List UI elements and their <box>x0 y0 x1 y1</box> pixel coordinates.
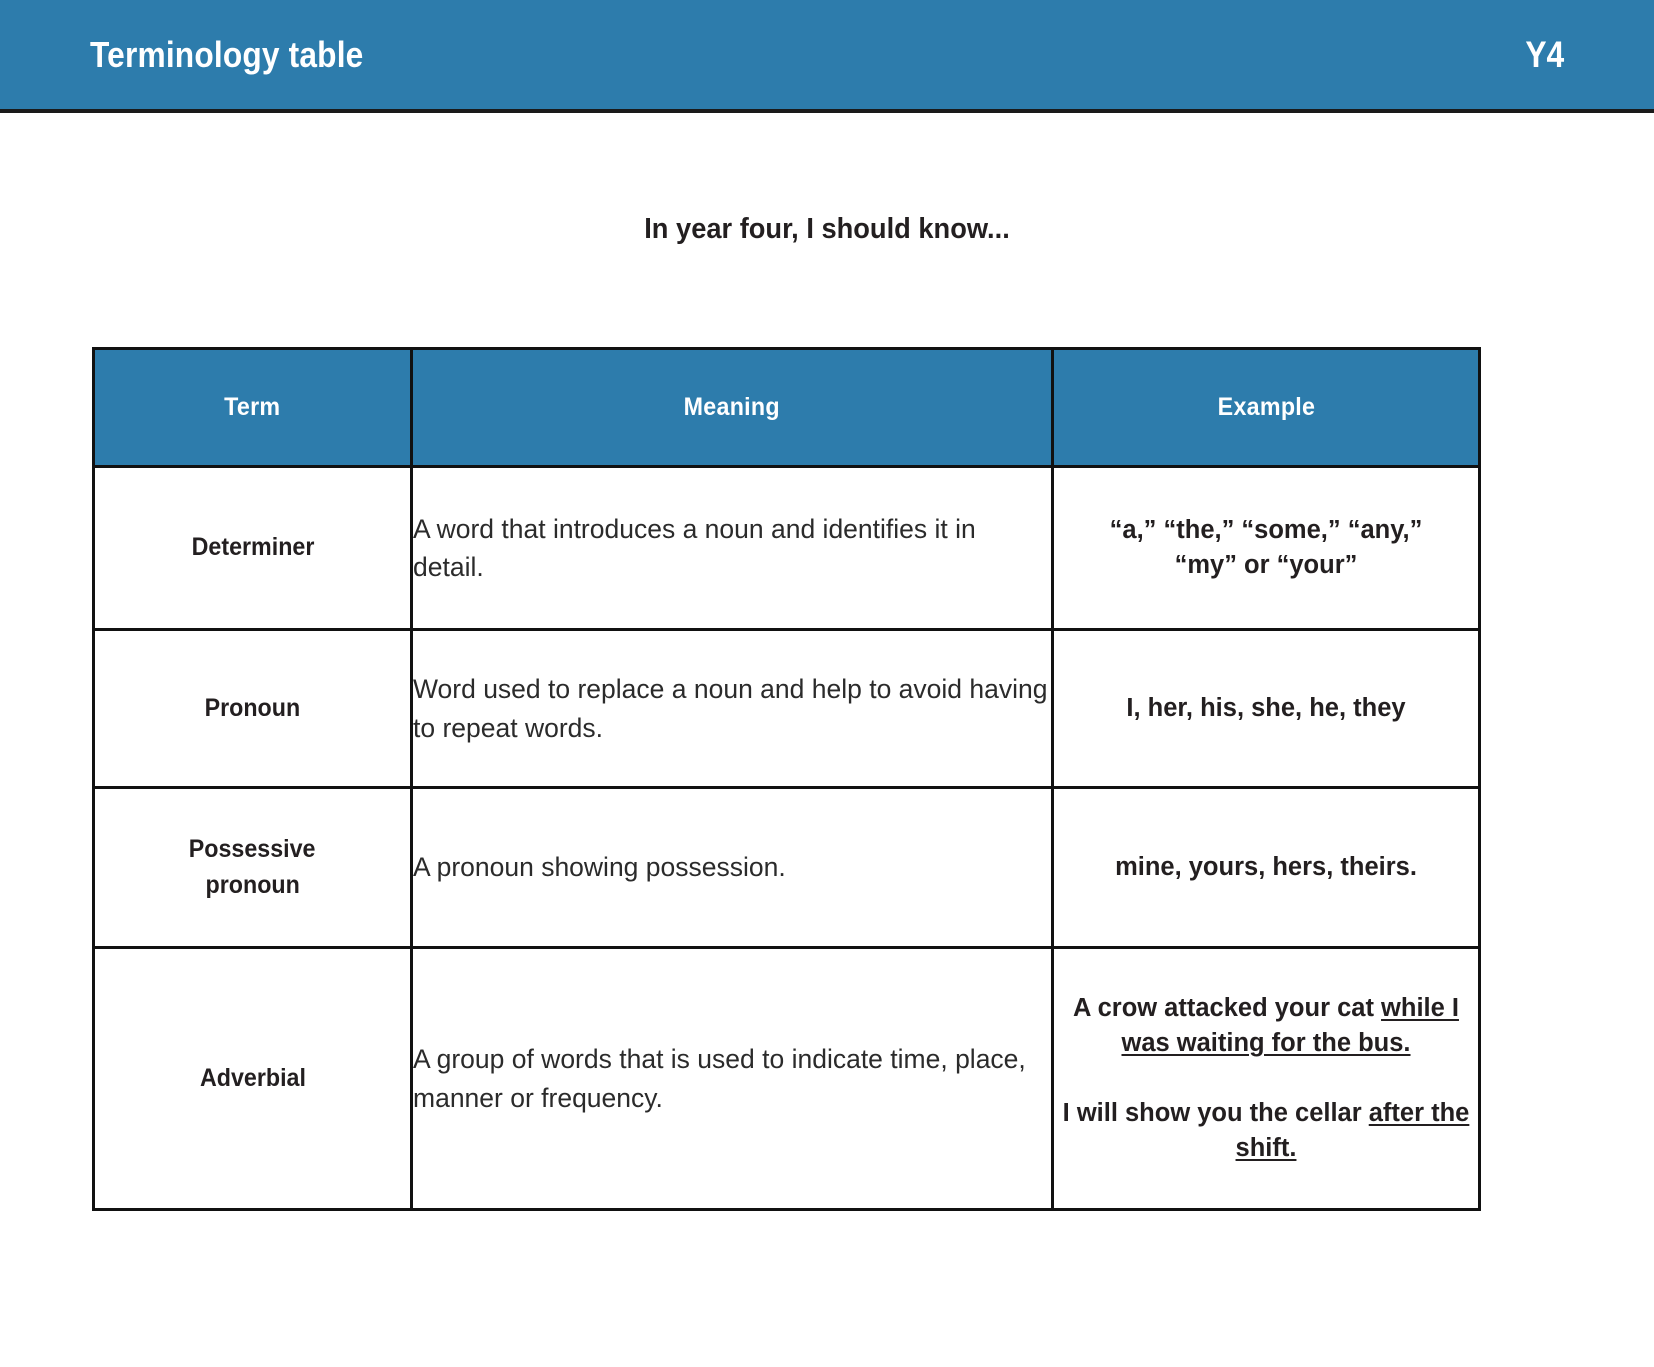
table-header-row: Term Meaning Example <box>94 349 1480 467</box>
year-group-badge: Y4 <box>1525 34 1564 76</box>
example-spacer <box>1054 1062 1478 1096</box>
cell-meaning: Word used to replace a noun and help to … <box>412 630 1053 788</box>
column-header-term: Term <box>94 349 412 467</box>
cell-term: Pronoun <box>94 630 412 788</box>
column-header-meaning: Meaning <box>412 349 1053 467</box>
term-label: Adverbial <box>200 1061 306 1097</box>
cell-meaning: A group of words that is used to indicat… <box>412 948 1053 1210</box>
example-plain-text: A crow attacked your cat <box>1073 994 1381 1022</box>
term-label: Pronoun <box>205 691 301 727</box>
table-row: Adverbial A group of words that is used … <box>94 948 1480 1210</box>
example-line: mine, yours, hers, theirs. <box>1054 850 1478 885</box>
terminology-table-container: Term Meaning Example Determiner A word t… <box>92 347 1478 1211</box>
cell-meaning: A pronoun showing possession. <box>412 788 1053 948</box>
cell-meaning: A word that introduces a noun and identi… <box>412 467 1053 630</box>
example-sentence-2: I will show you the cellar after the shi… <box>1054 1096 1478 1166</box>
cell-example: I, her, his, she, he, they <box>1053 630 1480 788</box>
table-row: Pronoun Word used to replace a noun and … <box>94 630 1480 788</box>
cell-term: Possessive pronoun <box>94 788 412 948</box>
example-line: “a,” “the,” “some,” “any,” <box>1054 513 1478 548</box>
column-header-example-label: Example <box>1217 393 1315 422</box>
example-line: “my” or “your” <box>1054 548 1478 583</box>
cell-example: mine, yours, hers, theirs. <box>1053 788 1480 948</box>
cell-term: Determiner <box>94 467 412 630</box>
cell-example: “a,” “the,” “some,” “any,” “my” or “your… <box>1053 467 1480 630</box>
term-label: Determiner <box>191 530 314 566</box>
term-label-line1: Possessive <box>189 832 316 868</box>
page-title: Terminology table <box>90 34 363 76</box>
table-row: Determiner A word that introduces a noun… <box>94 467 1480 630</box>
terminology-table: Term Meaning Example Determiner A word t… <box>92 347 1481 1211</box>
page-header-banner: Terminology table Y4 <box>0 0 1654 113</box>
example-sentence-1: A crow attacked your cat while I was wai… <box>1054 991 1478 1061</box>
subtitle: In year four, I should know... <box>50 213 1605 246</box>
column-header-example: Example <box>1053 349 1480 467</box>
cell-example: A crow attacked your cat while I was wai… <box>1053 948 1480 1210</box>
table-row: Possessive pronoun A pronoun showing pos… <box>94 788 1480 948</box>
table-header: Term Meaning Example <box>94 349 1480 467</box>
cell-term: Adverbial <box>94 948 412 1210</box>
example-plain-text: I will show you the cellar <box>1063 1099 1369 1127</box>
column-header-meaning-label: Meaning <box>684 393 780 422</box>
column-header-term-label: Term <box>224 393 280 422</box>
example-line: I, her, his, she, he, they <box>1054 691 1478 726</box>
term-label-line2: pronoun <box>205 868 299 904</box>
table-body: Determiner A word that introduces a noun… <box>94 467 1480 1210</box>
